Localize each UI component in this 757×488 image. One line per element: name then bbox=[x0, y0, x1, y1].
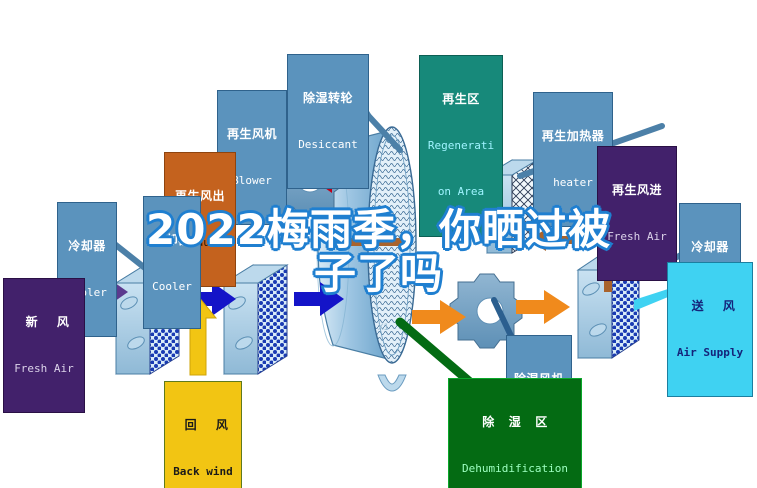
label-regen-area[interactable]: 再生区 Regenerati on Area bbox=[419, 55, 503, 237]
label-dehum-district-en-1: Dehumidification bbox=[454, 463, 576, 475]
arrow-brown-through-wheel bbox=[336, 238, 412, 246]
label-regen-fresh-air[interactable]: 再生风进 Fresh Air bbox=[597, 146, 677, 281]
label-back-wind[interactable]: 回 风 Back wind bbox=[164, 381, 242, 488]
label-regen-heater-cn: 再生加热器 bbox=[539, 130, 607, 143]
label-cooler-left-outer-cn: 冷却器 bbox=[63, 240, 111, 253]
label-desiccant-wheel[interactable]: 除湿转轮 Desiccant bbox=[287, 54, 369, 189]
arrow-blue-elbow bbox=[290, 210, 321, 250]
label-cooler-left-inner-cn: 冷却器 bbox=[149, 234, 195, 247]
label-back-wind-en: Back wind bbox=[170, 466, 236, 478]
label-regen-area-en-1: Regenerati bbox=[425, 140, 497, 152]
label-desiccant-wheel-en: Desiccant bbox=[293, 139, 363, 151]
label-regen-area-cn: 再生区 bbox=[425, 93, 497, 106]
label-desiccant-wheel-cn: 除湿转轮 bbox=[293, 92, 363, 105]
label-fresh-air-en: Fresh Air bbox=[9, 363, 79, 375]
label-cooler-left-inner[interactable]: 冷却器 Cooler bbox=[143, 196, 201, 329]
label-fresh-air-cn: 新 风 bbox=[9, 316, 79, 329]
label-cooler-left-inner-en: Cooler bbox=[149, 281, 195, 293]
label-air-supply-en: Air Supply bbox=[673, 347, 747, 359]
label-dehum-district[interactable]: 除 湿 区 Dehumidification District bbox=[448, 378, 582, 488]
arrow-blue-vertical bbox=[296, 262, 306, 300]
svg-text:X1: X1 bbox=[378, 323, 389, 333]
dehumidifier-diagram: X1 bbox=[0, 0, 757, 488]
label-air-supply[interactable]: 送 风 Air Supply bbox=[667, 262, 753, 397]
label-regen-fresh-air-en: Fresh Air bbox=[603, 231, 671, 243]
label-fresh-air[interactable]: 新 风 Fresh Air bbox=[3, 278, 85, 413]
label-regen-area-en-2: on Area bbox=[425, 186, 497, 198]
arrow-orange-2 bbox=[516, 290, 570, 324]
label-regen-blower-cn: 再生风机 bbox=[223, 128, 281, 141]
label-dehum-district-cn: 除 湿 区 bbox=[454, 416, 576, 429]
label-back-wind-cn: 回 风 bbox=[170, 419, 236, 432]
label-regen-fresh-air-cn: 再生风进 bbox=[603, 184, 671, 197]
label-cooler-right-cn: 冷却器 bbox=[685, 241, 735, 254]
label-air-supply-cn: 送 风 bbox=[673, 300, 747, 313]
